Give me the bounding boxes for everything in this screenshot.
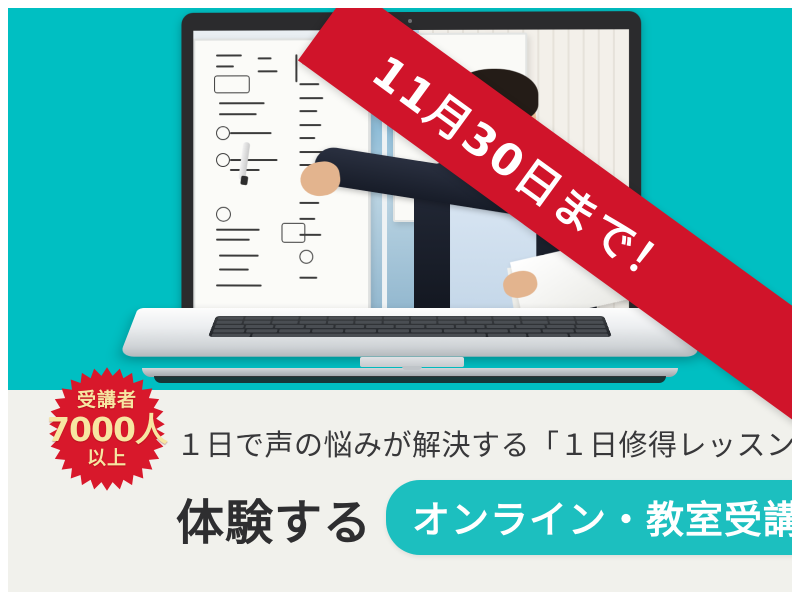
- badge-line-2: 7000人: [47, 413, 167, 446]
- laptop-base-shadow: [154, 376, 666, 383]
- bottom-copy-block: １日で声の悩みが解決する「１日修得レッスン」を 体験する オンライン・教室受講: [176, 422, 790, 555]
- student-count-badge: 受講者 7000人 以上: [41, 366, 173, 492]
- laptop-keyboard: [208, 316, 612, 337]
- headline-line-2: 体験する オンライン・教室受講: [176, 480, 790, 555]
- badge-line-1: 受講者: [77, 391, 137, 410]
- student-count-badge-text: 受講者 7000人 以上: [41, 366, 173, 492]
- marker-tip: [240, 175, 248, 185]
- promo-banner: 11月30日まで！ 受講者 7000人 以上 １日で声の悩みが解決する「１日修得…: [0, 0, 800, 600]
- laptop-open-notch: [402, 366, 422, 370]
- badge-line-3: 以上: [87, 449, 127, 468]
- headline-line-1: １日で声の悩みが解決する「１日修得レッスン」を: [176, 422, 790, 464]
- cta-verb: 体験する: [176, 483, 372, 553]
- webcam-icon: [408, 19, 412, 23]
- delivery-mode-pill[interactable]: オンライン・教室受講: [386, 480, 800, 555]
